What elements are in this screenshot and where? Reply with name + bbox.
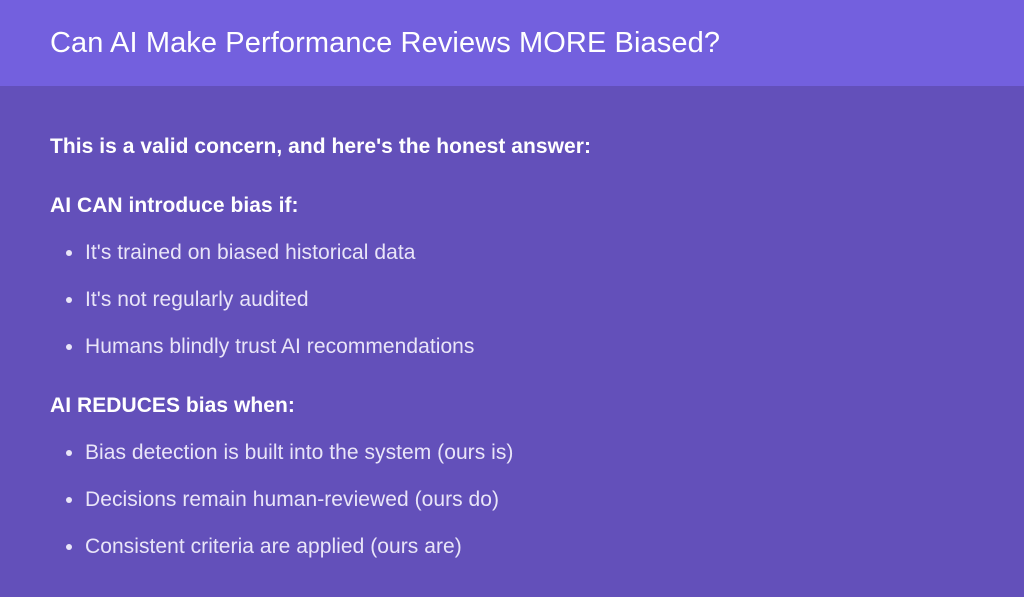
section-heading-ai-reduces-bias: AI REDUCES bias when:	[50, 360, 974, 419]
list-item-label: Bias detection is built into the system …	[85, 441, 513, 464]
slide-header-band: Can AI Make Performance Reviews MORE Bia…	[0, 0, 1024, 86]
list-item-label: It's not regularly audited	[85, 288, 309, 311]
list-item: Bias detection is built into the system …	[50, 440, 974, 466]
bullet-dot-icon	[66, 297, 72, 303]
bullet-dot-icon	[66, 344, 72, 350]
list-item-label: It's trained on biased historical data	[85, 241, 415, 264]
bullet-list-ai-can-introduce-bias: It's trained on biased historical data I…	[50, 220, 974, 361]
section-heading-ai-can-introduce-bias: AI CAN introduce bias if:	[50, 160, 974, 219]
list-item: Humans blindly trust AI recommendations	[50, 334, 974, 360]
list-item-label: Humans blindly trust AI recommendations	[85, 335, 474, 358]
bullet-list-ai-reduces-bias: Bias detection is built into the system …	[50, 420, 974, 561]
bullet-dot-icon	[66, 450, 72, 456]
list-item-label: Consistent criteria are applied (ours ar…	[85, 535, 462, 558]
slide-container: Can AI Make Performance Reviews MORE Bia…	[0, 0, 1024, 597]
bullet-dot-icon	[66, 497, 72, 503]
slide-body: This is a valid concern, and here's the …	[0, 86, 1024, 597]
list-item: It's trained on biased historical data	[50, 240, 974, 266]
slide-title: Can AI Make Performance Reviews MORE Bia…	[0, 26, 770, 61]
list-item-label: Decisions remain human-reviewed (ours do…	[85, 488, 499, 511]
list-item: It's not regularly audited	[50, 287, 974, 313]
bullet-dot-icon	[66, 250, 72, 256]
bullet-dot-icon	[66, 544, 72, 550]
lead-paragraph: This is a valid concern, and here's the …	[50, 86, 974, 160]
list-item: Consistent criteria are applied (ours ar…	[50, 534, 974, 560]
list-item: Decisions remain human-reviewed (ours do…	[50, 487, 974, 513]
